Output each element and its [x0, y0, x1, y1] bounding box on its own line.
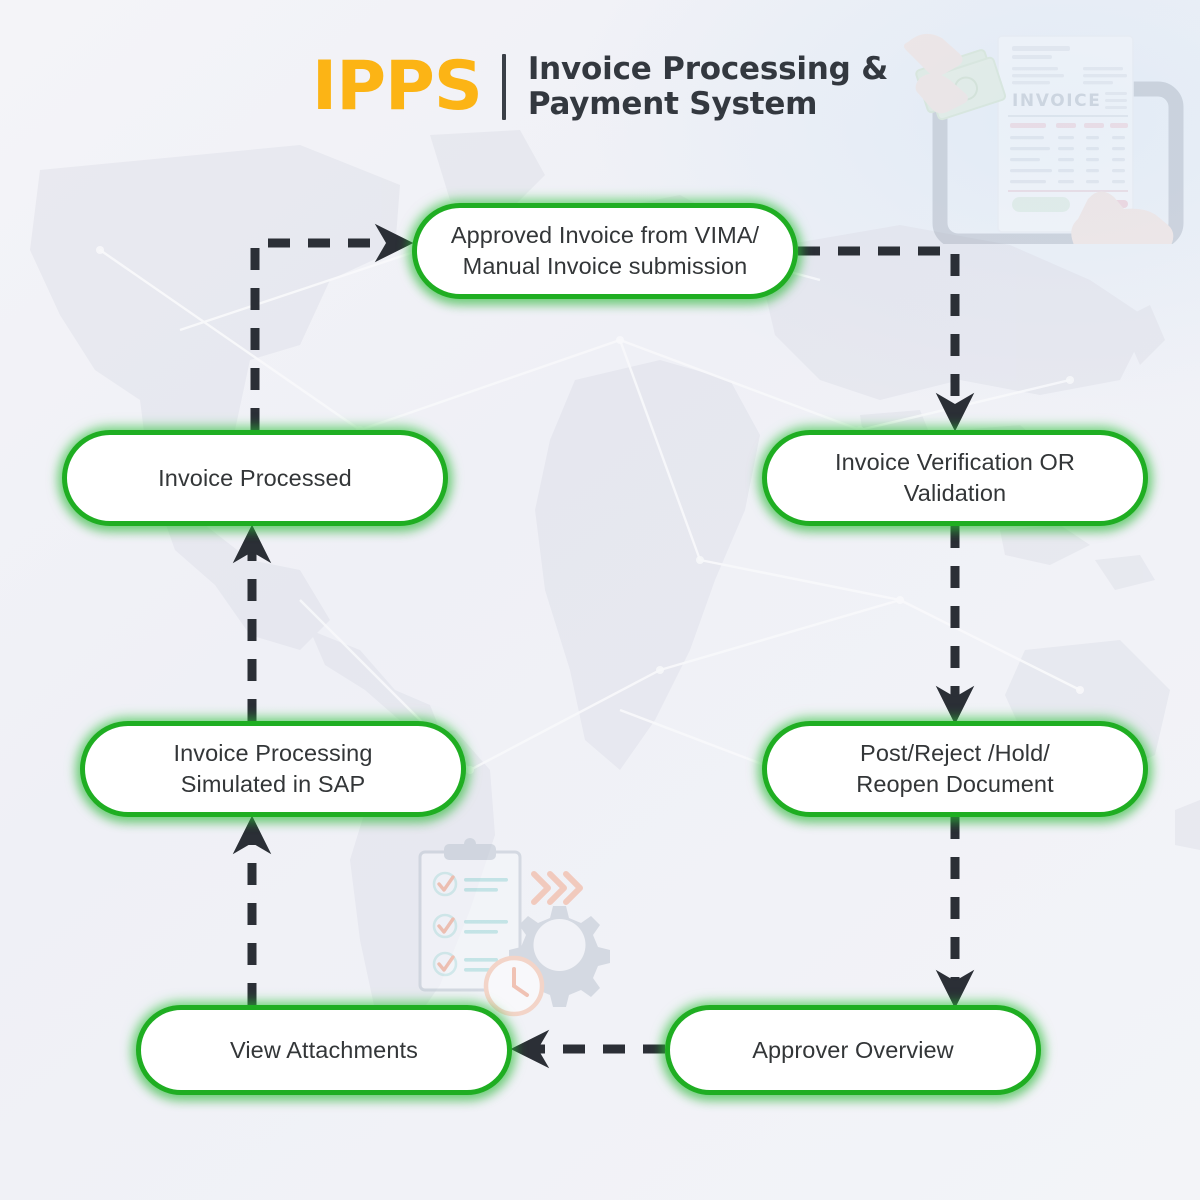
flow-node-invoice-processed[interactable]: Invoice Processed [62, 430, 448, 526]
edge-approved-to-verify [798, 251, 955, 414]
logo-divider [502, 54, 506, 120]
flow-node-label: Invoice Processed [144, 463, 366, 494]
flow-node-line1: Post/Reject /Hold/ [842, 738, 1067, 769]
page-title-line1: Invoice Processing & [528, 52, 888, 87]
flow-node-approved-invoice[interactable]: Approved Invoice from VIMA/ Manual Invoi… [412, 203, 798, 299]
ipps-logo-mark: IPPS [312, 53, 482, 121]
flow-node-post-reject-hold-reopen[interactable]: Post/Reject /Hold/ Reopen Document [762, 721, 1148, 817]
flow-node-label: Invoice Processing Simulated in SAP [145, 738, 400, 799]
flow-node-view-attachments[interactable]: View Attachments [136, 1005, 512, 1095]
flow-node-line1: Invoice Verification OR [821, 447, 1089, 478]
flow-node-label: View Attachments [216, 1035, 432, 1066]
page-title: Invoice Processing & Payment System [528, 52, 888, 123]
flow-node-invoice-verification[interactable]: Invoice Verification OR Validation [762, 430, 1148, 526]
flow-node-label: Approver Overview [738, 1035, 968, 1066]
page-title-line2: Payment System [528, 87, 888, 122]
flow-node-line2: Reopen Document [842, 769, 1067, 800]
flow-node-line2: Manual Invoice submission [437, 251, 773, 282]
flowchart-canvas: INVOICE [0, 0, 1200, 1200]
edge-processed-to-approved [255, 243, 396, 430]
flow-node-label: Approved Invoice from VIMA/ Manual Invoi… [423, 220, 787, 281]
flow-node-line1: Approved Invoice from VIMA/ [437, 220, 773, 251]
flow-node-line2: Validation [821, 478, 1089, 509]
flow-node-invoice-processing-sap[interactable]: Invoice Processing Simulated in SAP [80, 721, 466, 817]
flow-node-label: Invoice Verification OR Validation [807, 447, 1103, 508]
flow-node-approver-overview[interactable]: Approver Overview [665, 1005, 1041, 1095]
page-header: IPPS Invoice Processing & Payment System [0, 52, 1200, 123]
checklist-gear-clock-illustration [398, 838, 628, 1028]
flow-node-line1: Invoice Processing [159, 738, 386, 769]
flow-node-line2: Simulated in SAP [159, 769, 386, 800]
flow-node-label: Post/Reject /Hold/ Reopen Document [828, 738, 1081, 799]
